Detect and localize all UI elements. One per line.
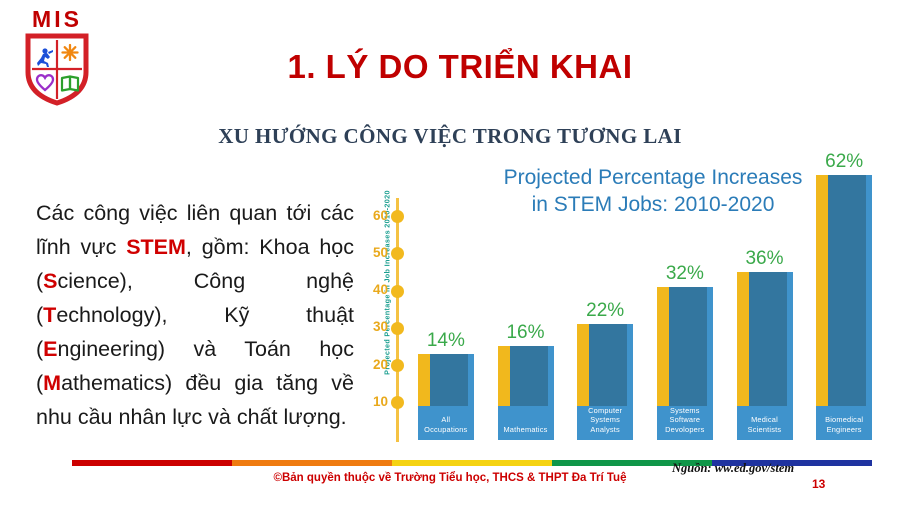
bar-category-label: Biomedical Engineers [816,415,872,434]
page-number: 13 [812,477,825,491]
bar-accent-strip [577,324,589,406]
source-note: Nguồn: ww.ed.gov/stem [672,461,794,476]
bar-value-label: 62% [816,151,872,173]
y-axis-tick-label: 40 [358,282,388,297]
section-subtitle: XU HƯỚNG CÔNG VIỆC TRONG TƯƠNG LAI [200,124,700,149]
y-axis-tick-dot [391,247,404,260]
y-axis-tick-label: 20 [358,357,388,372]
bar-category-label: Computer Systems Analysts [577,406,633,435]
bar-value-label: 14% [418,330,474,352]
y-axis-tick-label: 10 [358,394,388,409]
body-text: athematics) đều gia tăng về nhu cầu nhân… [36,371,354,429]
body-highlight: S [43,269,57,293]
rainbow-segment [392,460,552,466]
bar-value-label: 22% [577,300,633,322]
bar-fill [825,175,866,406]
chart-bar: 62%Biomedical Engineers [816,198,872,440]
bar-value-label: 36% [737,248,793,270]
page-title: 1. LÝ DO TRIỂN KHAI [110,48,810,86]
bar-fill [507,346,548,406]
body-paragraph: Các công việc liên quan tới các lĩnh vực… [36,196,354,434]
chart-bar: 16%Mathematics [498,198,554,440]
stem-jobs-bar-chart: Projected Percentage Increases in STEM J… [358,160,888,460]
body-highlight: E [43,337,57,361]
chart-bar: 36%Medical Scientists [737,198,793,440]
shield-icon [24,32,90,106]
bar-value-label: 16% [498,322,554,344]
chart-plot-area: 14%All Occupations16%Mathematics22%Compu… [406,198,884,440]
bar-accent-strip [816,175,828,406]
bar-category-label: Systems Software Devolopers [657,406,713,435]
bar-accent-strip [657,287,669,406]
logo-wordmark: MIS [14,6,100,33]
y-axis-tick-label: 50 [358,245,388,260]
body-highlight: STEM [126,235,186,259]
school-logo: MIS [14,6,100,106]
y-axis-tick-label: 30 [358,319,388,334]
rainbow-segment [72,460,232,466]
bar-accent-strip [498,346,510,406]
body-highlight: M [43,371,61,395]
chart-bar: 32%Systems Software Devolopers [657,198,713,440]
y-axis-tick-dot [391,210,404,223]
rainbow-segment [232,460,392,466]
bar-accent-strip [737,272,749,406]
y-axis-tick-dot [391,322,404,335]
bar-fill [586,324,627,406]
y-axis-tick-dot [391,396,404,409]
body-highlight: T [43,303,56,327]
bar-fill [427,354,468,406]
chart-bar: 14%All Occupations [418,198,474,440]
bar-value-label: 32% [657,263,713,285]
bar-category-label: Medical Scientists [737,415,793,434]
bar-category-label: All Occupations [418,415,474,434]
y-axis-tick-label: 60 [358,208,388,223]
sun-core-icon [67,50,72,55]
bar-fill [746,272,787,406]
bar-fill [666,287,707,406]
bar-category-label: Mathematics [498,425,554,435]
y-axis-tick-dot [391,285,404,298]
y-axis-tick-dot [391,359,404,372]
chart-bar: 22%Computer Systems Analysts [577,198,633,440]
bar-accent-strip [418,354,430,406]
